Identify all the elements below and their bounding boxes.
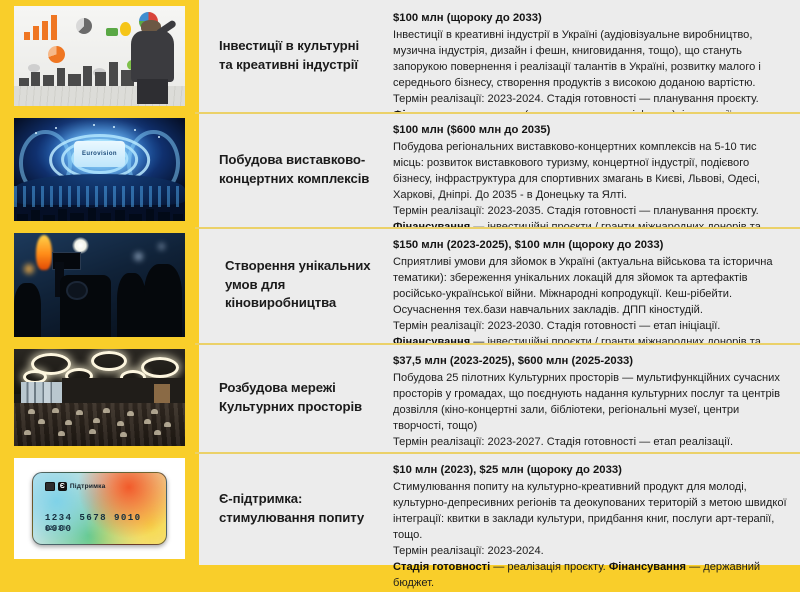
row-amount: $150 млн (2023-2025), $100 млн (щороку д… [393, 237, 790, 254]
row-image-cell-cultural-spaces [0, 343, 195, 452]
hall-door [154, 384, 169, 405]
movie-camera [60, 275, 111, 337]
row-amount: $100 млн (щороку до 2033) [393, 10, 790, 27]
row-term: Термін реалізації: 2023-2030. Стадія гот… [393, 318, 790, 334]
e-support-logo-icon: Є [58, 482, 67, 491]
row-description: Стимулювання попиту на культурно-креатив… [393, 479, 790, 544]
row-title: Інвестиції в культурні та креативні інду… [219, 37, 359, 74]
businessman-silhouette [130, 20, 174, 102]
card-brand-label: Підтримка [70, 483, 106, 490]
row-term: Термін реалізації: 2023-2024. Стадія гот… [393, 91, 790, 107]
row-title: Розбудова мережі Культурних просторів [219, 379, 362, 416]
table-row: Створення унікальних умов для кіновиробн… [0, 227, 800, 343]
city-silhouette [14, 205, 185, 221]
row-amount: $100 млн ($600 млн до 2035) [393, 122, 790, 139]
business-infographic-photo [14, 6, 185, 106]
row-description: Побудова 25 пілотних Культурних просторі… [393, 370, 790, 435]
row-description: Побудова регіональних виставково-концерт… [393, 139, 790, 204]
table-row: Розбудова мережі Культурних просторів $3… [0, 343, 800, 452]
row-image-cell-investments [0, 0, 195, 112]
stage-screen: Eurovision [74, 141, 125, 168]
conference-hall-photo [14, 349, 185, 446]
row-readiness-text: — реалізація проєкту. [490, 561, 609, 573]
row-description: Сприятливі умови для зйомок в Україні (а… [393, 254, 790, 319]
row-title: Створення унікальних умов для кіновиробн… [219, 257, 370, 313]
table-row: Eurovision Побудова виставково- концерт [0, 112, 800, 227]
flame-light [36, 235, 51, 270]
table-row: Є Підтримка 1234 5678 9010 0000 12/30 Є-… [0, 452, 800, 565]
row-readiness-funding: Стадія готовності — реалізація проєкту. … [393, 559, 790, 591]
row-term: Термін реалізації: 2023-2027. Стадія гот… [393, 434, 790, 450]
row-amount: $37,5 млн (2023-2025), $600 млн (2025-20… [393, 353, 790, 370]
programme-table: Інвестиції в культурні та креативні інду… [0, 0, 800, 565]
row-title-cell-e-support: Є-підтримка: стимулювання попиту [195, 452, 385, 565]
row-image-cell-e-support: Є Підтримка 1234 5678 9010 0000 12/30 [0, 452, 195, 565]
row-title-cell-film-production: Створення унікальних умов для кіновиробн… [195, 227, 385, 343]
row-title: Є-підтримка: стимулювання попиту [219, 490, 364, 527]
row-body-cell-film-production: $150 млн (2023-2025), $100 млн (щороку д… [385, 227, 800, 343]
eurovision-arena-photo: Eurovision [14, 118, 185, 221]
row-term: Термін реалізації: 2023-2024. [393, 543, 790, 559]
table-row: Інвестиції в культурні та креативні інду… [0, 0, 800, 112]
card-brand-row: Є Підтримка [45, 482, 106, 491]
audience-seats [14, 403, 185, 446]
row-title-cell-expo-concert: Побудова виставково- концертних комплекс… [195, 112, 385, 227]
row-amount: $10 млн (2023), $25 млн (щороку до 2033) [393, 462, 790, 479]
row-title: Побудова виставково- концертних комплекс… [219, 151, 369, 188]
row-term: Термін реалізації: 2023-2035. Стадія гот… [393, 203, 790, 219]
row-readiness-label: Стадія готовності [393, 561, 490, 573]
film-set-camera-photo [14, 233, 185, 337]
row-body-cell-expo-concert: $100 млн ($600 млн до 2035) Побудова рег… [385, 112, 800, 227]
row-description: Інвестиції в креативні індустрії в Украї… [393, 27, 790, 92]
row-funding-label: Фінансування [609, 561, 686, 573]
payment-card-photo: Є Підтримка 1234 5678 9010 0000 12/30 [14, 458, 185, 559]
row-body-cell-e-support: $10 млн (2023), $25 млн (щороку до 2033)… [385, 452, 800, 565]
bar-doodle [24, 14, 68, 40]
stage-caption: Eurovision [74, 141, 125, 168]
row-body-cell-cultural-spaces: $37,5 млн (2023-2025), $600 млн (2025-20… [385, 343, 800, 452]
row-image-cell-film-production [0, 227, 195, 343]
chip-icon [45, 482, 55, 491]
row-body-cell-investments: $100 млн (щороку до 2033) Інвестиції в к… [385, 0, 800, 112]
card-expiry: 12/30 [45, 525, 67, 532]
row-title-cell-investments: Інвестиції в культурні та креативні інду… [195, 0, 385, 112]
row-image-cell-expo-concert: Eurovision [0, 112, 195, 227]
payment-card: Є Підтримка 1234 5678 9010 0000 12/30 [32, 472, 167, 545]
row-title-cell-cultural-spaces: Розбудова мережі Культурних просторів [195, 343, 385, 452]
